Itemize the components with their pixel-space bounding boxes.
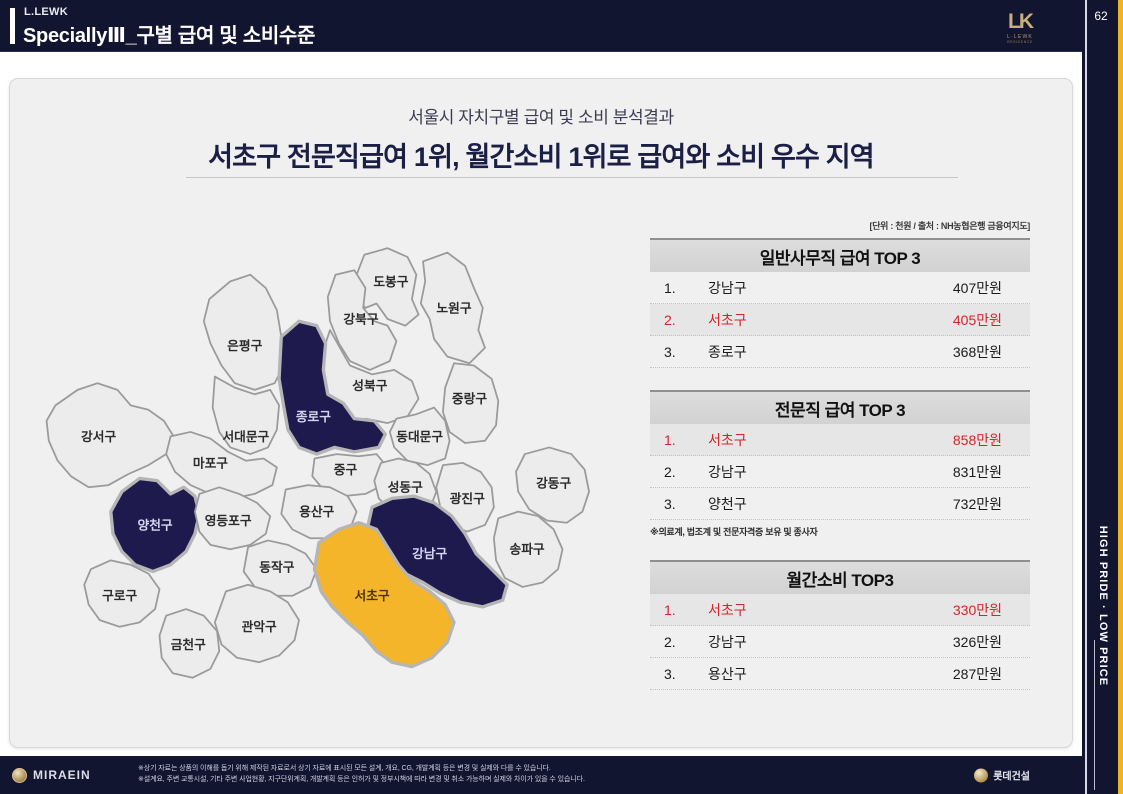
value-cell: 405만원 [878,310,1030,330]
content-panel: 서울시 자치구별 급여 및 소비 분석결과 서초구 전문직급여 1위, 월간소비… [9,78,1073,748]
header-divider [0,51,1082,52]
table-row[interactable]: 2. 강남구 831만원 [650,456,1030,488]
map-label-guro: 구로구 [102,588,137,603]
district-cell: 양천구 [708,494,878,514]
rail-hairline [1085,0,1087,794]
logo-subword: RESIDENCE [1007,40,1033,44]
value-cell: 330만원 [878,600,1030,620]
footer-note-1: ※상기 자료는 상품의 이해를 돕기 위해 제작된 자료로서 상기 자료에 표시… [138,764,585,775]
rank-cell: 2. [650,634,708,650]
header-brand: L.LEWK [24,6,68,18]
district-cell: 강남구 [708,632,878,652]
value-cell: 732만원 [878,494,1030,514]
rail-tagline: HIGH PRIDE · LOW PRICE [1097,526,1109,686]
map-label-geumcheon: 금천구 [171,637,206,652]
rank-cell: 1. [650,432,708,448]
map-label-gangbuk: 강북구 [343,311,378,326]
table-row[interactable]: 3. 종로구 368만원 [650,336,1030,368]
map-label-jungnang: 중랑구 [452,391,487,406]
table-footnote: ※의료계, 법조계 및 전문자격증 보유 및 종사자 [650,525,1030,538]
miraein-label: MIRAEIN [33,768,91,782]
brand-logo: LK L·LEWK RESIDENCE [994,6,1046,48]
map-label-dobong: 도봉구 [373,274,408,289]
map-label-eunpyeong: 은평구 [227,338,262,353]
map-label-gangseo: 강서구 [81,429,116,444]
map-label-songpa: 송파구 [510,542,545,557]
table-monthly-consumption: 월간소비 TOP3 1. 서초구 330만원 2. 강남구 326만원 3. 용… [650,560,1030,690]
district-cell: 강남구 [708,462,878,482]
map-label-seodaemun: 서대문구 [222,429,269,444]
map-label-gwangjin: 광진구 [450,491,485,506]
map-label-gangdong: 강동구 [536,475,571,490]
table-professional-salary: 전문직 급여 TOP 3 1. 서초구 858만원 2. 강남구 831만원 3… [650,390,1030,538]
miraein-logo: MIRAEIN [12,768,132,783]
map-label-seongbuk: 성북구 [352,378,387,393]
value-cell: 407만원 [878,278,1030,298]
rank-cell: 3. [650,666,708,682]
map-label-nowon: 노원구 [436,300,471,315]
rank-cell: 1. [650,280,708,296]
rank-cell: 3. [650,496,708,512]
headline-divider [186,177,958,178]
footer-disclaimers: ※상기 자료는 상품의 이해를 돕기 위해 제작된 자료로서 상기 자료에 표시… [138,764,585,786]
table-row[interactable]: 2. 서초구 405만원 [650,304,1030,336]
table-row[interactable]: 3. 양천구 732만원 [650,488,1030,520]
map-label-jung: 중구 [334,462,358,477]
page-title: SpeciallyⅢ_구별 급여 및 소비수준 [23,19,315,48]
page-number: 62 [1082,9,1120,23]
map-label-gangnam: 강남구 [412,546,447,561]
headline-title: 서초구 전문직급여 1위, 월간소비 1위로 급여와 소비 우수 지역 [10,135,1072,174]
map-label-seongdong: 성동구 [388,480,423,495]
value-cell: 368만원 [878,342,1030,362]
map-label-yeongdeungpo: 영등포구 [205,513,252,528]
table-row[interactable]: 3. 용산구 287만원 [650,658,1030,690]
header-accent-bar [10,8,15,44]
crest-icon [12,768,27,783]
lotte-brand: 롯데건설 [974,768,1030,783]
lotte-label: 롯데건설 [993,768,1030,783]
rail-gold-stripe [1118,0,1123,794]
unit-source-note: [단위 : 천원 / 출처 : NH농협은행 금융여지도] [650,219,1030,232]
seoul-district-map: .pl { fill:#ececec; stroke:#9a9a9a; stro… [20,214,640,734]
district-cell: 강남구 [708,278,878,298]
table-row[interactable]: 1. 서초구 330만원 [650,594,1030,626]
ranking-tables: [단위 : 천원 / 출처 : NH농협은행 금융여지도] 일반사무직 급여 T… [650,219,1030,712]
rank-cell: 1. [650,602,708,618]
logo-mark: LK [1008,11,1032,32]
table-row[interactable]: 1. 서초구 858만원 [650,424,1030,456]
table-title: 월간소비 TOP3 [650,560,1030,594]
right-rail: 62 HIGH PRIDE · LOW PRICE [1082,0,1123,794]
map-label-dongjak: 동작구 [259,559,294,574]
map-label-yangcheon: 양천구 [138,517,173,532]
headline-subtitle: 서울시 자치구별 급여 및 소비 분석결과 [10,103,1072,128]
footer-note-2: ※설계요, 주변 교통시설, 기타 주변 사업현황, 지구단위계획, 개발계획 … [138,775,585,786]
map-label-dongdaemun: 동대문구 [396,429,443,444]
district-cell: 서초구 [708,310,878,330]
value-cell: 831만원 [878,462,1030,482]
map-label-mapo: 마포구 [193,455,228,470]
district-cell: 용산구 [708,664,878,684]
top-header-bar: L.LEWK SpeciallyⅢ_구별 급여 및 소비수준 LK L·LEWK… [0,0,1082,52]
rank-cell: 3. [650,344,708,360]
lotte-icon [974,768,988,782]
table-row[interactable]: 1. 강남구 407만원 [650,272,1030,304]
headline-block: 서울시 자치구별 급여 및 소비 분석결과 서초구 전문직급여 1위, 월간소비… [10,103,1072,174]
rank-cell: 2. [650,464,708,480]
table-office-salary: 일반사무직 급여 TOP 3 1. 강남구 407만원 2. 서초구 405만원… [650,238,1030,368]
map-label-yongsan: 용산구 [299,504,334,519]
slide-page: L.LEWK SpeciallyⅢ_구별 급여 및 소비수준 LK L·LEWK… [0,0,1123,794]
rank-cell: 2. [650,312,708,328]
table-row[interactable]: 2. 강남구 326만원 [650,626,1030,658]
district-cell: 서초구 [708,600,878,620]
map-label-seocho: 서초구 [355,588,390,603]
rail-vertical-line [1094,640,1095,790]
value-cell: 326만원 [878,632,1030,652]
map-label-gwanak: 관악구 [242,619,277,634]
value-cell: 287만원 [878,664,1030,684]
table-title: 일반사무직 급여 TOP 3 [650,238,1030,272]
map-label-jongno: 종로구 [296,409,331,424]
footer-bar: MIRAEIN ※상기 자료는 상품의 이해를 돕기 위해 제작된 자료로서 상… [0,756,1082,794]
table-title: 전문직 급여 TOP 3 [650,390,1030,424]
district-cell: 서초구 [708,430,878,450]
district-cell: 종로구 [708,342,878,362]
value-cell: 858만원 [878,430,1030,450]
